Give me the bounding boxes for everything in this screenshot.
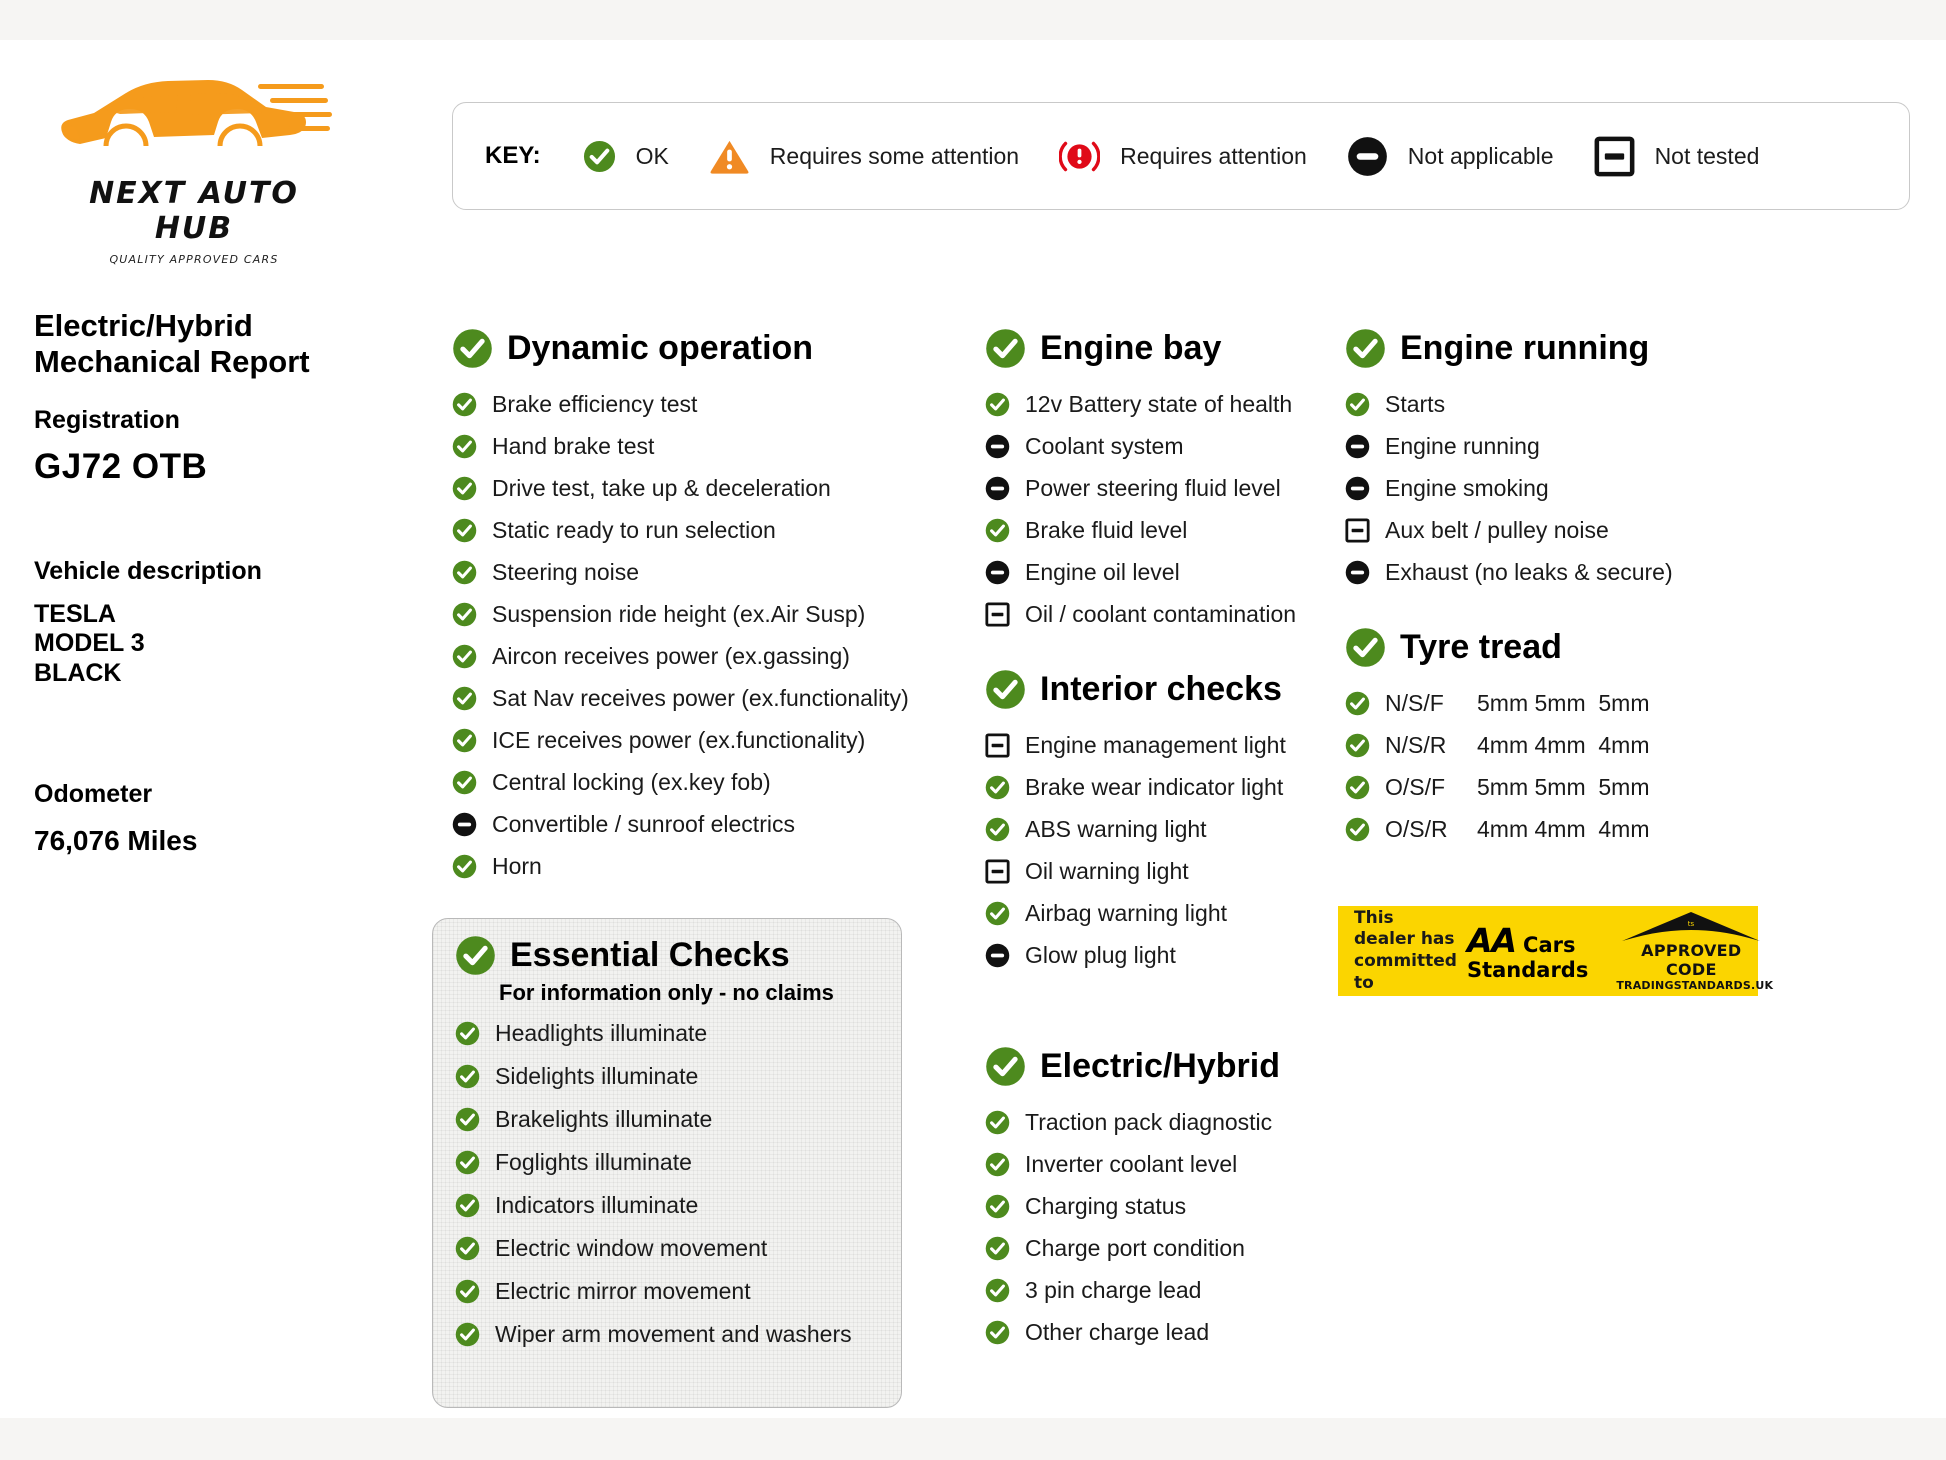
tyre-position: N/S/R xyxy=(1385,732,1477,759)
approved-code-logo: ts APPROVED CODE TRADINGSTANDARDS.UK xyxy=(1616,911,1766,992)
check-circle-green-icon xyxy=(452,434,477,459)
check-circle-green-icon xyxy=(985,328,1026,369)
section-status-icon xyxy=(1345,627,1386,668)
key-item-requires-attention: Requires attention xyxy=(1059,136,1307,177)
car-logo-icon xyxy=(44,70,334,182)
checklist-item-label: Suspension ride height (ex.Air Susp) xyxy=(492,601,865,628)
checklist-item-label: Brake fluid level xyxy=(1025,517,1187,544)
minus-circle-black-icon xyxy=(985,943,1010,968)
status-key-legend: KEY: OK Requires some attention xyxy=(452,102,1910,210)
minus-circle-black-icon xyxy=(1347,136,1388,177)
panel-essential-checks: Essential Checks For information only - … xyxy=(432,918,902,1408)
section-status-icon xyxy=(985,1046,1026,1087)
tyre-measurements: 5mm 5mm 5mm xyxy=(1477,774,1650,801)
check-circle-green-icon xyxy=(985,1320,1010,1345)
checklist-item-label: Electric window movement xyxy=(495,1235,767,1262)
check-circle-green-icon xyxy=(452,770,477,795)
dealer-name: NEXT AUTO HUB xyxy=(44,176,344,246)
checklist-item-label: Engine oil level xyxy=(1025,559,1180,586)
check-circle-green-icon xyxy=(1345,691,1370,716)
checklist-item: Engine management light xyxy=(985,724,1345,766)
section-status-icon xyxy=(452,328,493,369)
check-circle-green-icon xyxy=(455,1236,480,1261)
tyre-row: N/S/R4mm 4mm 4mm xyxy=(1345,724,1815,766)
minus-circle-black-icon xyxy=(1345,560,1370,585)
checklist-item-label: Sidelights illuminate xyxy=(495,1063,698,1090)
checklist-item: Brakelights illuminate xyxy=(455,1098,901,1141)
approved-code-text: APPROVED CODE xyxy=(1616,941,1766,979)
column-engine-bay: Engine bay 12v Battery state of healthCo… xyxy=(985,328,1345,1353)
checklist-item: Airbag warning light xyxy=(985,892,1345,934)
check-circle-green-icon xyxy=(1345,627,1386,668)
minus-circle-black-icon xyxy=(985,434,1010,459)
check-circle-green-icon xyxy=(1345,817,1370,842)
check-circle-green-icon xyxy=(452,686,477,711)
essential-checks-note: For information only - no claims xyxy=(499,980,901,1006)
section-status-icon xyxy=(1345,328,1386,369)
check-circle-green-icon xyxy=(985,669,1026,710)
checklist-item-label: Static ready to run selection xyxy=(492,517,776,544)
checklist-item-label: Traction pack diagnostic xyxy=(1025,1109,1272,1136)
check-circle-green-icon xyxy=(455,1021,480,1046)
minus-circle-black-icon xyxy=(452,812,477,837)
checklist-item-label: Sat Nav receives power (ex.functionality… xyxy=(492,685,909,712)
section-title: Tyre tread xyxy=(1400,628,1562,667)
key-label-requires-attention: Requires attention xyxy=(1120,143,1307,170)
column-dynamic-operation: Dynamic operation Brake efficiency testH… xyxy=(452,328,952,887)
check-circle-green-icon xyxy=(1345,392,1370,417)
key-label: KEY: xyxy=(485,142,541,170)
aa-cars-text: Cars xyxy=(1523,933,1575,957)
section-header-engine-running: Engine running xyxy=(1345,328,1815,369)
checklist-item-label: Indicators illuminate xyxy=(495,1192,698,1219)
checklist-item-label: Engine management light xyxy=(1025,732,1286,759)
checklist-item-label: Aircon receives power (ex.gassing) xyxy=(492,643,850,670)
dealer-logo: NEXT AUTO HUB QUALITY APPROVED CARS xyxy=(44,70,344,266)
checklist-item-label: ABS warning light xyxy=(1025,816,1207,843)
registration-label: Registration xyxy=(34,406,429,435)
checklist-item-label: Engine smoking xyxy=(1385,475,1549,502)
checklist-item-label: Power steering fluid level xyxy=(1025,475,1281,502)
check-circle-green-icon xyxy=(455,1193,480,1218)
checklist-item: Steering noise xyxy=(452,551,952,593)
check-circle-green-icon xyxy=(583,140,616,173)
checklist-item: Charging status xyxy=(985,1185,1345,1227)
checklist-item: Exhaust (no leaks & secure) xyxy=(1345,551,1815,593)
check-circle-green-icon xyxy=(452,728,477,753)
check-circle-green-icon xyxy=(985,392,1010,417)
check-circle-green-icon xyxy=(1345,733,1370,758)
checklist-item-label: Charge port condition xyxy=(1025,1235,1245,1262)
section-header-engine-bay: Engine bay xyxy=(985,328,1345,369)
checklist-item-label: Oil / coolant contamination xyxy=(1025,601,1296,628)
aa-standards-text: Standards xyxy=(1467,958,1588,982)
check-circle-green-icon xyxy=(985,817,1010,842)
vehicle-info-sidebar: NEXT AUTO HUB QUALITY APPROVED CARS Elec… xyxy=(34,70,429,857)
tyre-position: O/S/F xyxy=(1385,774,1477,801)
checklist-item: Static ready to run selection xyxy=(452,509,952,551)
checklist-item: Glow plug light xyxy=(985,934,1345,976)
checklist-item-label: Foglights illuminate xyxy=(495,1149,692,1176)
section-title: Electric/Hybrid xyxy=(1040,1047,1280,1086)
check-circle-green-icon xyxy=(452,644,477,669)
checklist-item-label: Starts xyxy=(1385,391,1445,418)
alert-circle-red-icon xyxy=(1059,136,1100,177)
checklist-item-label: Convertible / sunroof electrics xyxy=(492,811,795,838)
checklist-item: Other charge lead xyxy=(985,1311,1345,1353)
check-circle-green-icon xyxy=(455,1279,480,1304)
checklist-item: 3 pin charge lead xyxy=(985,1269,1345,1311)
checklist-item-label: Steering noise xyxy=(492,559,639,586)
section-header-dynamic-operation: Dynamic operation xyxy=(452,328,952,369)
checklist-item: ABS warning light xyxy=(985,808,1345,850)
check-circle-green-icon xyxy=(452,518,477,543)
tyre-measurements: 4mm 4mm 4mm xyxy=(1477,816,1650,843)
checklist-item-label: 3 pin charge lead xyxy=(1025,1277,1201,1304)
tyre-row: O/S/R4mm 4mm 4mm xyxy=(1345,808,1815,850)
checklist-item: Horn xyxy=(452,845,952,887)
trading-standards-text: TRADINGSTANDARDS.UK xyxy=(1616,979,1766,992)
page-title: Electric/HybridMechanical Report xyxy=(34,308,429,380)
checklist-item-label: Electric mirror movement xyxy=(495,1278,751,1305)
check-circle-green-icon xyxy=(452,602,477,627)
section-header-electric-hybrid: Electric/Hybrid xyxy=(985,1046,1345,1087)
checklist-item: Brake efficiency test xyxy=(452,383,952,425)
check-circle-green-icon xyxy=(985,518,1010,543)
section-header-tyre-tread: Tyre tread xyxy=(1345,627,1815,668)
checklist-item-label: ICE receives power (ex.functionality) xyxy=(492,727,865,754)
checklist-item-label: Glow plug light xyxy=(1025,942,1176,969)
check-circle-green-icon xyxy=(985,1046,1026,1087)
section-title: Essential Checks xyxy=(510,936,790,975)
minus-square-black-icon xyxy=(1345,518,1370,543)
tyre-position: N/S/F xyxy=(1385,690,1477,717)
checklist-item: Electric window movement xyxy=(455,1227,901,1270)
aa-logo-text: AA xyxy=(1467,921,1516,960)
checklist-item-label: Drive test, take up & deceleration xyxy=(492,475,831,502)
minus-circle-black-icon xyxy=(1345,476,1370,501)
minus-square-black-icon xyxy=(985,733,1010,758)
checklist-item: Drive test, take up & deceleration xyxy=(452,467,952,509)
key-label-ok: OK xyxy=(636,143,669,170)
check-circle-green-icon xyxy=(985,1152,1010,1177)
checklist-item-label: Horn xyxy=(492,853,542,880)
checklist-engine-bay: 12v Battery state of healthCoolant syste… xyxy=(985,383,1345,635)
checklist-engine-running: StartsEngine runningEngine smokingAux be… xyxy=(1345,383,1815,593)
key-item-some-attention: Requires some attention xyxy=(709,136,1019,177)
vehicle-description-label: Vehicle description xyxy=(34,557,429,586)
checklist-item-label: Brake wear indicator light xyxy=(1025,774,1283,801)
checklist-item: Coolant system xyxy=(985,425,1345,467)
check-circle-green-icon xyxy=(452,328,493,369)
key-label-not-applicable: Not applicable xyxy=(1408,143,1554,170)
odometer-label: Odometer xyxy=(34,780,429,809)
checklist-item: Brake fluid level xyxy=(985,509,1345,551)
checklist-item-label: Headlights illuminate xyxy=(495,1020,707,1047)
check-circle-green-icon xyxy=(455,1064,480,1089)
registration-value: GJ72 OTB xyxy=(34,447,429,487)
checklist-item-label: Other charge lead xyxy=(1025,1319,1209,1346)
checklist-item: Suspension ride height (ex.Air Susp) xyxy=(452,593,952,635)
minus-square-black-icon xyxy=(985,602,1010,627)
checklist-item: Convertible / sunroof electrics xyxy=(452,803,952,845)
aa-cars-standards-text: AA Cars Standards xyxy=(1467,921,1588,982)
section-status-icon xyxy=(455,935,496,976)
checklist-item: Engine running xyxy=(1345,425,1815,467)
check-circle-green-icon xyxy=(452,392,477,417)
aa-committed-text: This dealer has committed to xyxy=(1354,908,1457,995)
checklist-item: Traction pack diagnostic xyxy=(985,1101,1345,1143)
section-status-icon xyxy=(985,328,1026,369)
check-circle-green-icon xyxy=(1345,775,1370,800)
section-status-icon xyxy=(985,669,1026,710)
section-header-essential-checks: Essential Checks xyxy=(455,935,901,976)
check-circle-green-icon xyxy=(452,854,477,879)
section-header-interior-checks: Interior checks xyxy=(985,669,1345,710)
tyre-row: O/S/F5mm 5mm 5mm xyxy=(1345,766,1815,808)
key-item-not-applicable: Not applicable xyxy=(1347,136,1554,177)
aa-cars-standards-badge: This dealer has committed to AA Cars Sta… xyxy=(1338,906,1758,996)
section-title: Interior checks xyxy=(1040,670,1282,709)
checklist-item: Hand brake test xyxy=(452,425,952,467)
key-label-not-tested: Not tested xyxy=(1655,143,1760,170)
check-circle-green-icon xyxy=(985,1236,1010,1261)
checklist-item-label: Charging status xyxy=(1025,1193,1186,1220)
minus-square-black-icon xyxy=(1594,136,1635,177)
checklist-item: Brake wear indicator light xyxy=(985,766,1345,808)
checklist-item: Indicators illuminate xyxy=(455,1184,901,1227)
check-circle-green-icon xyxy=(455,1107,480,1132)
report-page: NEXT AUTO HUB QUALITY APPROVED CARS Elec… xyxy=(0,40,1946,1418)
section-title: Dynamic operation xyxy=(507,329,813,368)
checklist-item: Starts xyxy=(1345,383,1815,425)
check-circle-green-icon xyxy=(985,901,1010,926)
warning-triangle-orange-icon xyxy=(709,136,750,177)
checklist-interior-checks: Engine management lightBrake wear indica… xyxy=(985,724,1345,976)
check-circle-green-icon xyxy=(985,1278,1010,1303)
key-item-ok: OK xyxy=(583,140,669,173)
check-circle-green-icon xyxy=(455,1322,480,1347)
checklist-item: Charge port condition xyxy=(985,1227,1345,1269)
key-item-not-tested: Not tested xyxy=(1594,136,1760,177)
checklist-item-label: Airbag warning light xyxy=(1025,900,1227,927)
checklist-tyre-tread: N/S/F5mm 5mm 5mmN/S/R4mm 4mm 4mmO/S/F5mm… xyxy=(1345,682,1815,850)
section-title: Engine bay xyxy=(1040,329,1221,368)
checklist-item: Aircon receives power (ex.gassing) xyxy=(452,635,952,677)
svg-text:ts: ts xyxy=(1688,920,1695,928)
dealer-tagline: QUALITY APPROVED CARS xyxy=(44,253,344,266)
check-circle-green-icon xyxy=(455,1150,480,1175)
vehicle-description-value: TESLAMODEL 3BLACK xyxy=(34,600,429,689)
checklist-item: Central locking (ex.key fob) xyxy=(452,761,952,803)
minus-circle-black-icon xyxy=(985,560,1010,585)
checklist-item: Headlights illuminate xyxy=(455,1012,901,1055)
check-circle-green-icon xyxy=(1345,328,1386,369)
tyre-position: O/S/R xyxy=(1385,816,1477,843)
checklist-item-label: Exhaust (no leaks & secure) xyxy=(1385,559,1673,586)
checklist-item: Foglights illuminate xyxy=(455,1141,901,1184)
checklist-item: Aux belt / pulley noise xyxy=(1345,509,1815,551)
check-circle-green-icon xyxy=(985,775,1010,800)
checklist-dynamic-operation: Brake efficiency testHand brake testDriv… xyxy=(452,383,952,887)
checklist-item-label: Engine running xyxy=(1385,433,1540,460)
tyre-measurements: 5mm 5mm 5mm xyxy=(1477,690,1650,717)
tyre-measurements: 4mm 4mm 4mm xyxy=(1477,732,1650,759)
key-label-some-attention: Requires some attention xyxy=(770,143,1019,170)
checklist-item-label: Coolant system xyxy=(1025,433,1184,460)
minus-circle-black-icon xyxy=(1345,434,1370,459)
tyre-row: N/S/F5mm 5mm 5mm xyxy=(1345,682,1815,724)
checklist-item: Oil / coolant contamination xyxy=(985,593,1345,635)
checklist-item: Engine smoking xyxy=(1345,467,1815,509)
checklist-item: Inverter coolant level xyxy=(985,1143,1345,1185)
checklist-item-label: Hand brake test xyxy=(492,433,654,460)
checklist-item: Oil warning light xyxy=(985,850,1345,892)
checklist-item: Power steering fluid level xyxy=(985,467,1345,509)
checklist-item: Sat Nav receives power (ex.functionality… xyxy=(452,677,952,719)
minus-circle-black-icon xyxy=(985,476,1010,501)
checklist-item-label: Central locking (ex.key fob) xyxy=(492,769,771,796)
approved-code-chevron-icon: ts xyxy=(1621,911,1761,945)
checklist-item-label: Brake efficiency test xyxy=(492,391,697,418)
checklist-item: Electric mirror movement xyxy=(455,1270,901,1313)
minus-square-black-icon xyxy=(985,859,1010,884)
checklist-item: Engine oil level xyxy=(985,551,1345,593)
checklist-item-label: Aux belt / pulley noise xyxy=(1385,517,1609,544)
check-circle-green-icon xyxy=(985,1194,1010,1219)
checklist-item: ICE receives power (ex.functionality) xyxy=(452,719,952,761)
section-title: Engine running xyxy=(1400,329,1649,368)
checklist-item-label: 12v Battery state of health xyxy=(1025,391,1292,418)
check-circle-green-icon xyxy=(452,476,477,501)
checklist-item: Sidelights illuminate xyxy=(455,1055,901,1098)
checklist-electric-hybrid: Traction pack diagnosticInverter coolant… xyxy=(985,1101,1345,1353)
checklist-essential-checks: Headlights illuminateSidelights illumina… xyxy=(455,1012,901,1356)
check-circle-green-icon xyxy=(452,560,477,585)
column-engine-running: Engine running StartsEngine runningEngin… xyxy=(1345,328,1815,850)
checklist-item-label: Oil warning light xyxy=(1025,858,1189,885)
checklist-item: 12v Battery state of health xyxy=(985,383,1345,425)
checklist-item: Wiper arm movement and washers xyxy=(455,1313,901,1356)
odometer-value: 76,076 Miles xyxy=(34,825,429,857)
checklist-item-label: Brakelights illuminate xyxy=(495,1106,712,1133)
checklist-item-label: Inverter coolant level xyxy=(1025,1151,1237,1178)
check-circle-green-icon xyxy=(985,1110,1010,1135)
check-circle-green-icon xyxy=(455,935,496,976)
checklist-item-label: Wiper arm movement and washers xyxy=(495,1321,852,1348)
